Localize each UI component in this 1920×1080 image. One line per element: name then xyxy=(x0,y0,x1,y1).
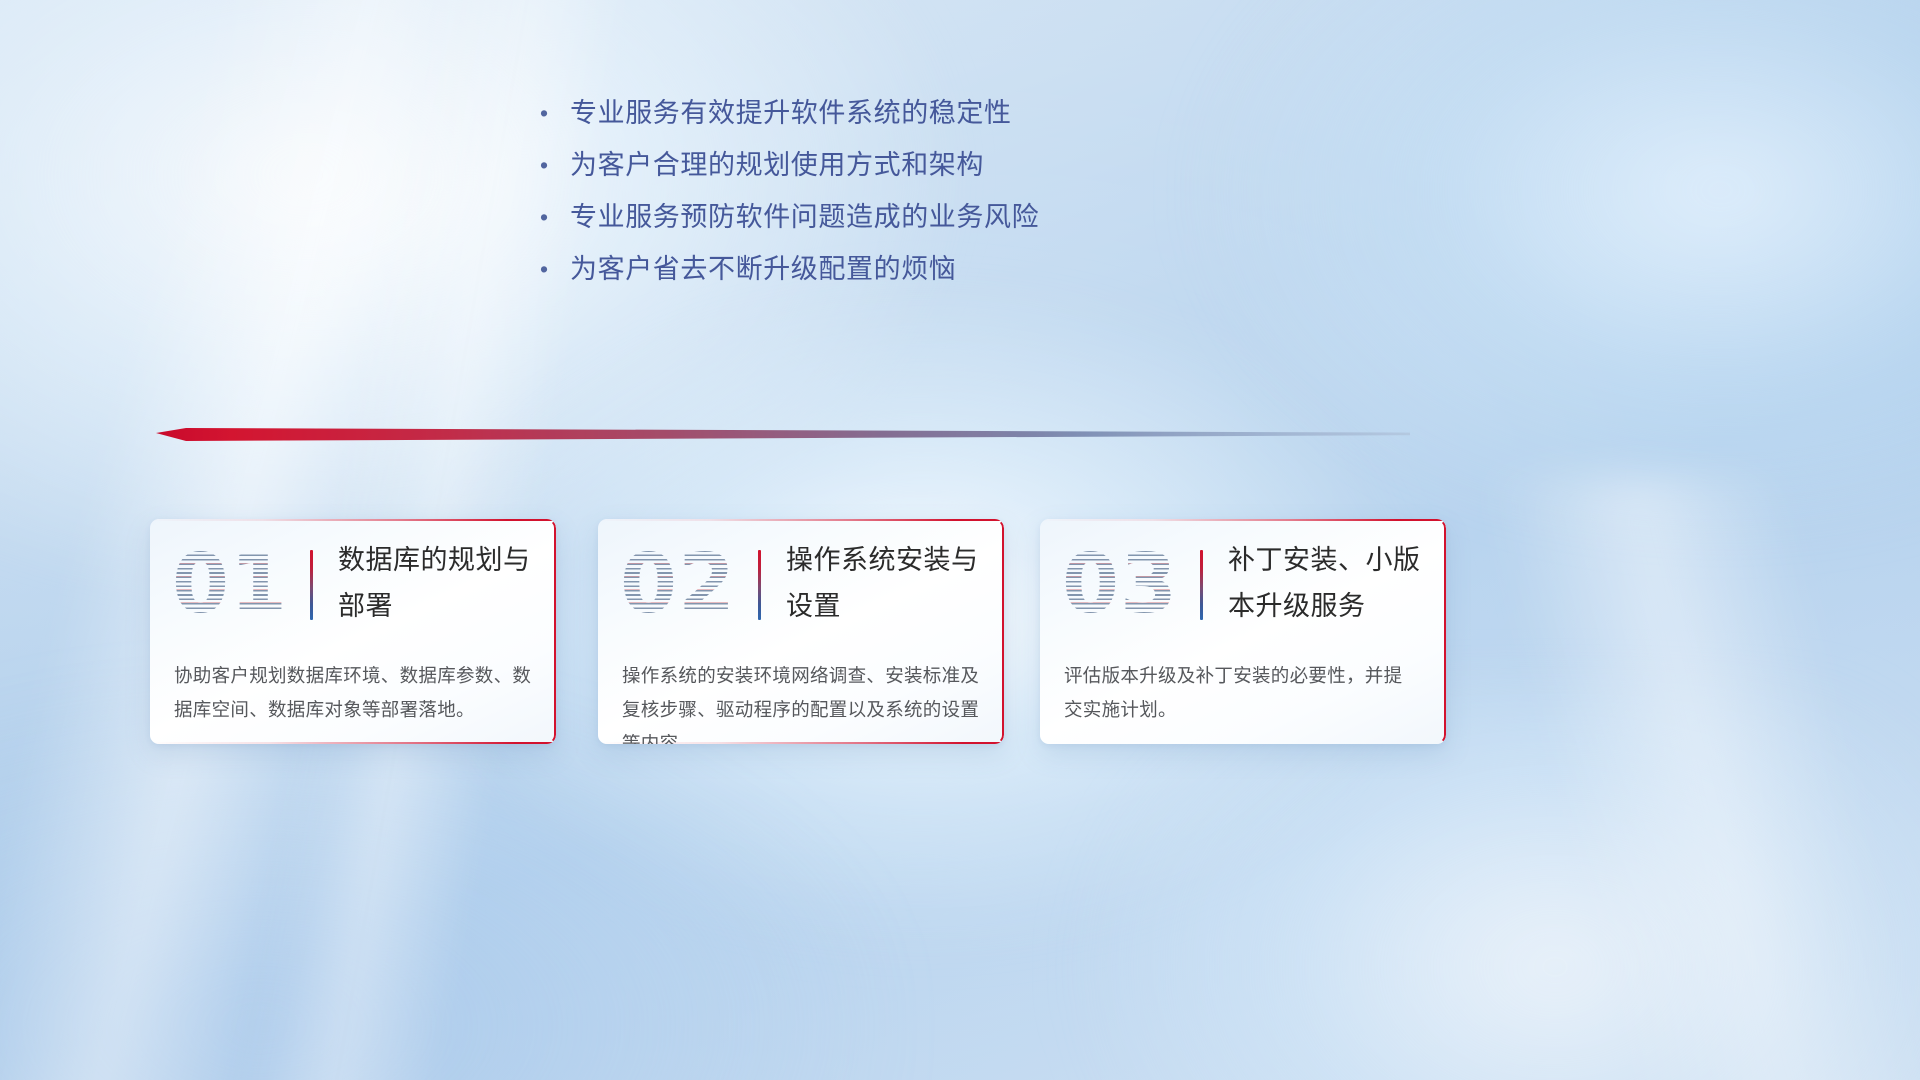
card-number-text: 03 xyxy=(1062,537,1178,632)
bullet-text-2: 为客户合理的规划使用方式和架构 xyxy=(570,140,984,190)
card-number-text: 01 xyxy=(172,537,288,632)
card-divider-bar xyxy=(310,550,313,620)
service-card-row: 01 01 数据库的规划与部署 协助客户规划数据库环境、数据库参数、数据库空间、… xyxy=(150,519,1452,744)
card-divider-bar xyxy=(1200,550,1203,620)
bullet-text-3: 专业服务预防软件问题造成的业务风险 xyxy=(570,192,1039,242)
bullet-dot-icon: • xyxy=(540,244,570,294)
card-divider-bar xyxy=(758,550,761,620)
list-item: • 为客户省去不断升级配置的烦恼 xyxy=(540,244,1180,296)
card-number-03: 03 xyxy=(1062,541,1184,629)
card-number-text: 02 xyxy=(620,537,736,632)
card-header: 03 03 补丁安装、小版本升级服务 xyxy=(1040,519,1446,645)
card-body-02: 操作系统的安装环境网络调查、安装标准及复核步骤、驱动程序的配置以及系统的设置等内… xyxy=(622,659,982,744)
bullet-text-4: 为客户省去不断升级配置的烦恼 xyxy=(570,244,956,294)
section-divider xyxy=(152,424,1410,446)
bullet-dot-icon: • xyxy=(540,192,570,242)
card-title-02: 操作系统安装与设置 xyxy=(786,537,992,629)
service-card-01[interactable]: 01 01 数据库的规划与部署 协助客户规划数据库环境、数据库参数、数据库空间、… xyxy=(150,519,556,744)
card-body-03: 评估版本升级及补丁安装的必要性，并提交实施计划。 xyxy=(1064,659,1416,727)
divider-shape-icon xyxy=(152,424,1410,446)
list-item: • 专业服务有效提升软件系统的稳定性 xyxy=(540,88,1180,140)
bullet-dot-icon: • xyxy=(540,88,570,138)
benefits-bullet-list: • 专业服务有效提升软件系统的稳定性 • 为客户合理的规划使用方式和架构 • 专… xyxy=(540,88,1180,296)
bullet-dot-icon: • xyxy=(540,140,570,190)
card-number-01: 01 xyxy=(172,541,294,629)
card-title-03: 补丁安装、小版本升级服务 xyxy=(1228,537,1434,629)
card-title-01: 数据库的规划与部署 xyxy=(338,537,544,629)
list-item: • 专业服务预防软件问题造成的业务风险 xyxy=(540,192,1180,244)
bullet-text-1: 专业服务有效提升软件系统的稳定性 xyxy=(570,88,1012,138)
card-header: 01 01 数据库的规划与部署 xyxy=(150,519,556,645)
list-item: • 为客户合理的规划使用方式和架构 xyxy=(540,140,1180,192)
service-card-03[interactable]: 03 03 补丁安装、小版本升级服务 评估版本升级及补丁安装的必要性，并提交实施… xyxy=(1040,519,1446,744)
card-number-02: 02 xyxy=(620,541,742,629)
card-body-01: 协助客户规划数据库环境、数据库参数、数据库空间、数据库对象等部署落地。 xyxy=(174,659,534,727)
service-card-02[interactable]: 02 02 操作系统安装与设置 操作系统的安装环境网络调查、安装标准及复核步骤、… xyxy=(598,519,1004,744)
card-header: 02 02 操作系统安装与设置 xyxy=(598,519,1004,645)
